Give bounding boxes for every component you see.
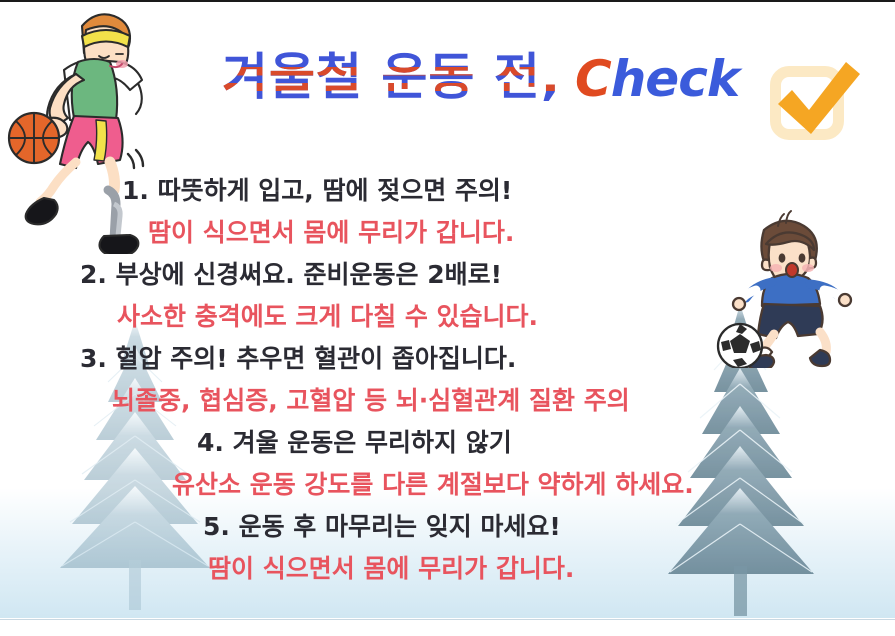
checkmark-icon: [766, 60, 862, 152]
basketball-player-illustration: [4, 4, 172, 254]
brand-word-check: Check: [575, 54, 739, 104]
brand-letter-c: C: [575, 50, 611, 108]
tip-item: 4. 겨울 운동은 무리하지 않기 유산소 운동 강도를 다른 계절보다 약하게…: [0, 422, 895, 506]
tip-sub-text: 뇌졸중, 협심증, 고혈압 등 뇌·심혈관계 질환 주의: [0, 380, 895, 422]
page-title-base: 겨울철 운동 전,: [222, 48, 561, 106]
page-title: 겨울철 운동 전, 겨울철 운동 전,: [222, 52, 561, 102]
tip-main-text: 5. 운동 후 마무리는 잊지 마세요!: [0, 506, 895, 548]
bottom-divider: [0, 619, 895, 620]
soccer-player-illustration: [712, 208, 872, 368]
poster-canvas: 겨울철 운동 전, 겨울철 운동 전, Check 1. 따뜻하게 입고, 땀에…: [0, 0, 895, 636]
tip-sub-text: 유산소 운동 강도를 다른 계절보다 약하게 하세요.: [0, 464, 895, 506]
tip-sub-text: 땀이 식으면서 몸에 무리가 갑니다.: [0, 548, 895, 590]
tip-main-text: 4. 겨울 운동은 무리하지 않기: [0, 422, 895, 464]
tip-item: 5. 운동 후 마무리는 잊지 마세요! 땀이 식으면서 몸에 무리가 갑니다.: [0, 506, 895, 590]
brand-letters-heck: heck: [611, 50, 739, 108]
check-tick: [766, 60, 862, 152]
